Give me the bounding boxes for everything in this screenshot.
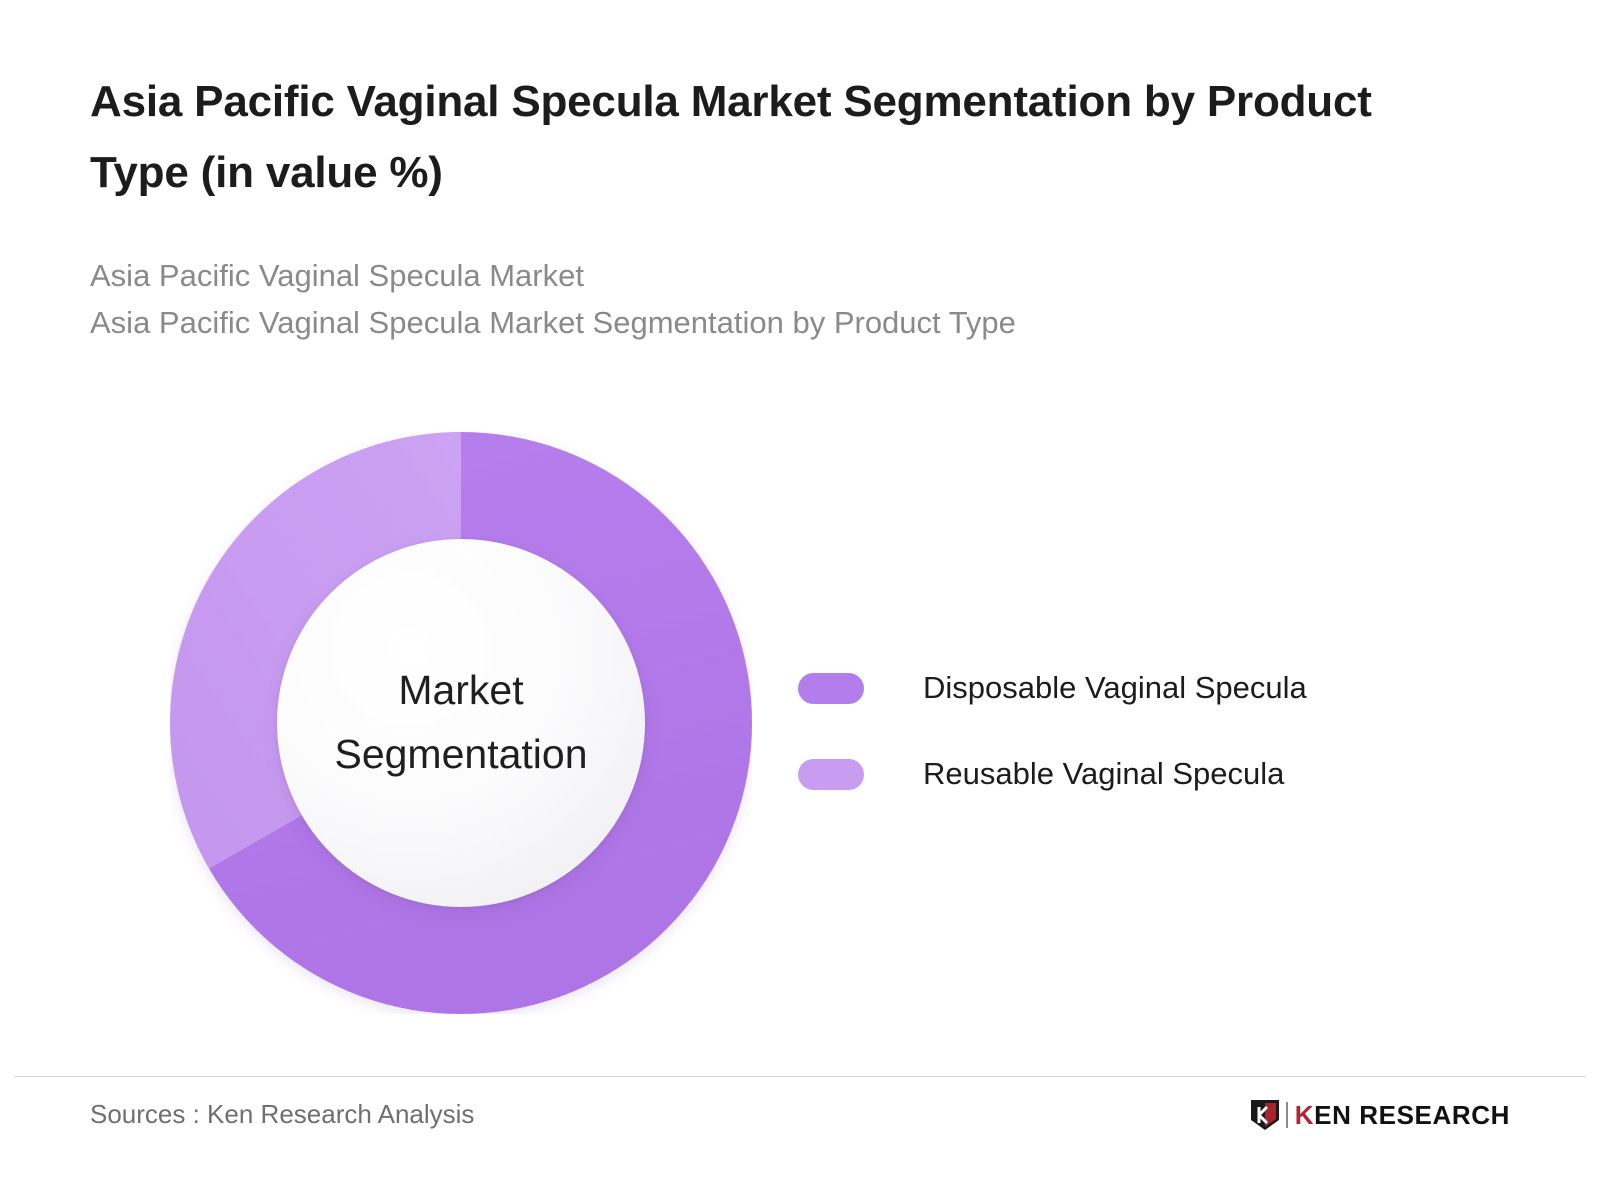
legend-swatch-icon-reusable [798,759,864,790]
logo-wordmark: KEN RESEARCH [1295,1102,1510,1128]
donut-graphic: Market Segmentation [170,432,752,1014]
legend-swatch-icon-disposable [798,673,864,704]
ken-shield-icon [1250,1099,1280,1131]
donut-center-line-1: Market [334,659,587,723]
page-title: Asia Pacific Vaginal Specula Market Segm… [90,66,1410,209]
legend-label-reusable: Reusable Vaginal Specula [923,755,1284,792]
subtitle-line-1: Asia Pacific Vaginal Specula Market [90,252,1410,299]
subtitle-line-2: Asia Pacific Vaginal Specula Market Segm… [90,299,1410,346]
footer-divider [14,1076,1586,1077]
legend-item-reusable[interactable]: Reusable Vaginal Specula [798,731,1438,817]
slide-canvas: Asia Pacific Vaginal Specula Market Segm… [0,0,1600,1200]
logo-rest-text: EN RESEARCH [1314,1100,1510,1130]
donut-center-line-2: Segmentation [334,723,587,787]
donut-center-hub: Market Segmentation [277,539,645,907]
legend-item-disposable[interactable]: Disposable Vaginal Specula [798,645,1438,731]
logo-divider [1286,1102,1288,1128]
logo-accent-letter: K [1295,1100,1314,1130]
chart-legend: Disposable Vaginal Specula Reusable Vagi… [798,645,1438,817]
page-subtitle: Asia Pacific Vaginal Specula Market Asia… [90,252,1410,346]
legend-label-disposable: Disposable Vaginal Specula [923,669,1307,706]
footer-sources: Sources : Ken Research Analysis [90,1098,474,1132]
donut-center-label: Market Segmentation [334,659,587,787]
ken-research-logo: KEN RESEARCH [1250,1098,1510,1132]
